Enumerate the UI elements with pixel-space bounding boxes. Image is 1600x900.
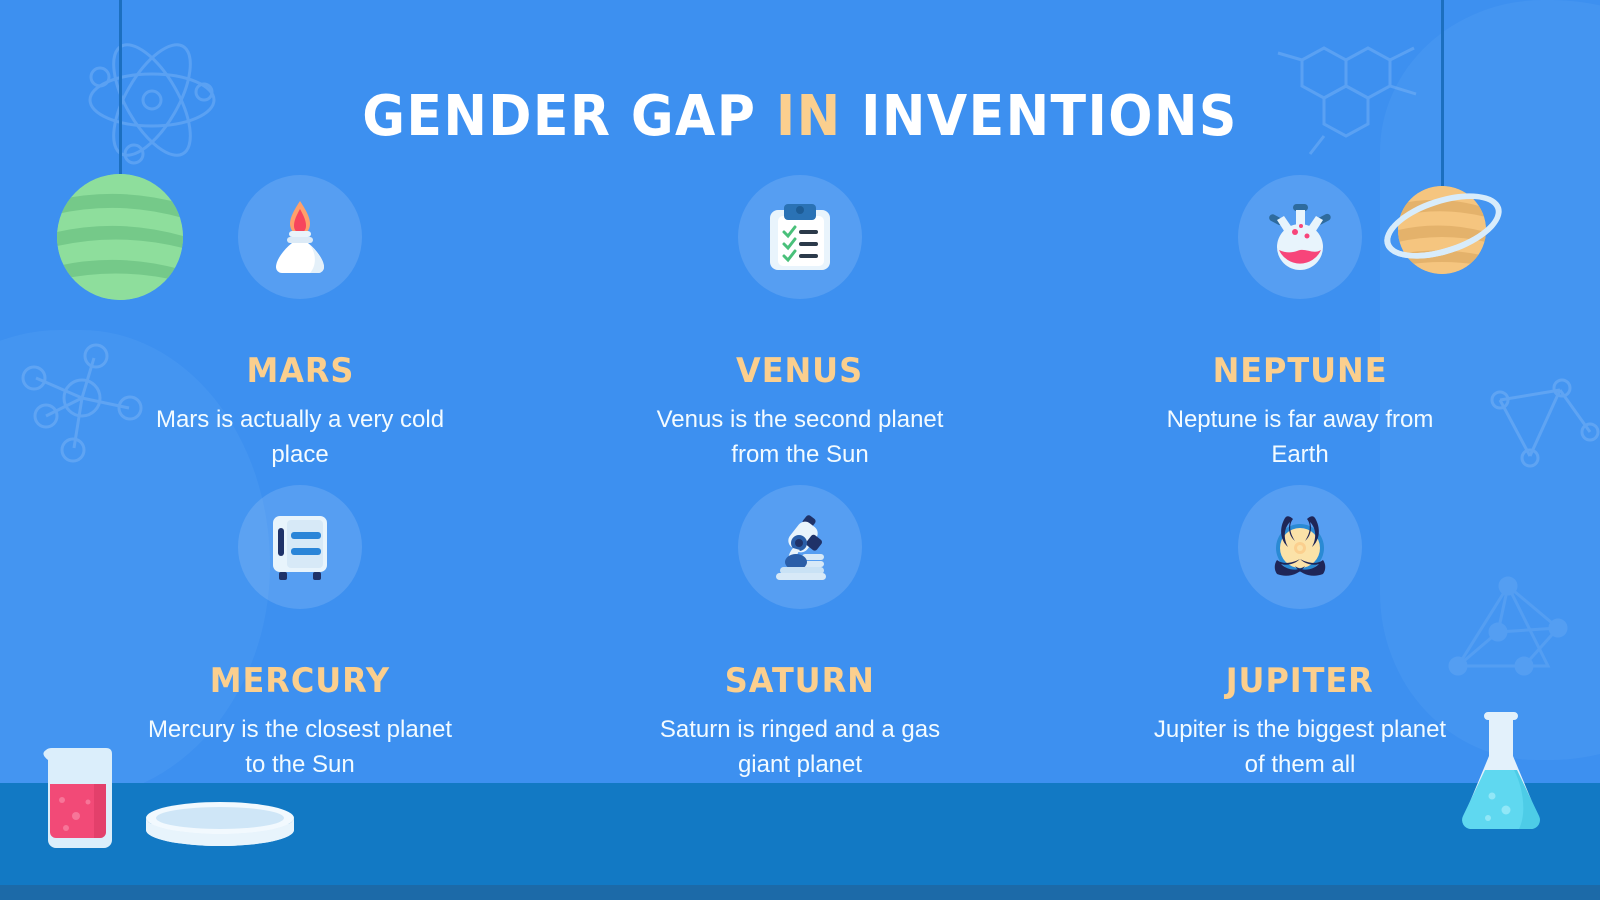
icon-circle-neptune[interactable] (1238, 175, 1362, 299)
slide-canvas: GENDER GAP IN INVENTIONS MARS Mars is ac… (0, 0, 1600, 900)
card-saturn[interactable]: SATURN Saturn is ringed and a gas giant … (550, 485, 1050, 795)
card-title-mercury: MERCURY (210, 661, 390, 701)
clipboard-checklist-icon (768, 202, 832, 272)
beaker-pink-liquid (32, 740, 122, 850)
petri-dish (144, 800, 296, 848)
card-title-jupiter: JUPITER (1226, 661, 1374, 701)
title-part-after: INVENTIONS (842, 84, 1238, 149)
card-title-neptune: NEPTUNE (1213, 351, 1388, 391)
card-desc-venus: Venus is the second planet from the Sun (648, 403, 953, 473)
page-title: GENDER GAP IN INVENTIONS (56, 84, 1544, 149)
footer-strip (0, 885, 1600, 900)
icon-circle-jupiter[interactable] (1238, 485, 1362, 609)
erlenmeyer-flask-cyan-liquid (1458, 708, 1544, 840)
title-highlight: IN (776, 84, 842, 149)
card-title-venus: VENUS (737, 351, 864, 391)
card-desc-saturn: Saturn is ringed and a gas giant planet (648, 713, 953, 783)
title-part-before: GENDER GAP (362, 84, 776, 149)
lab-oven-icon (269, 512, 331, 582)
card-venus[interactable]: VENUS Venus is the second planet from th… (550, 175, 1050, 485)
card-title-mars: MARS (246, 351, 354, 391)
card-desc-mars: Mars is actually a very cold place (148, 403, 453, 473)
biohazard-icon (1265, 512, 1335, 582)
icon-circle-mars[interactable] (238, 175, 362, 299)
bunsen-burner-icon (270, 199, 330, 275)
three-neck-flask-icon (1265, 202, 1335, 272)
card-desc-neptune: Neptune is far away from Earth (1148, 403, 1453, 473)
card-neptune[interactable]: NEPTUNE Neptune is far away from Earth (1050, 175, 1550, 485)
icon-circle-venus[interactable] (738, 175, 862, 299)
card-desc-jupiter: Jupiter is the biggest planet of them al… (1148, 713, 1453, 783)
microscope-icon (766, 512, 834, 582)
card-mars[interactable]: MARS Mars is actually a very cold place (50, 175, 550, 485)
planet-card-grid: MARS Mars is actually a very cold place (50, 175, 1550, 795)
icon-circle-saturn[interactable] (738, 485, 862, 609)
icon-circle-mercury[interactable] (238, 485, 362, 609)
card-mercury[interactable]: MERCURY Mercury is the closest planet to… (50, 485, 550, 795)
card-desc-mercury: Mercury is the closest planet to the Sun (148, 713, 453, 783)
card-title-saturn: SATURN (725, 661, 875, 701)
